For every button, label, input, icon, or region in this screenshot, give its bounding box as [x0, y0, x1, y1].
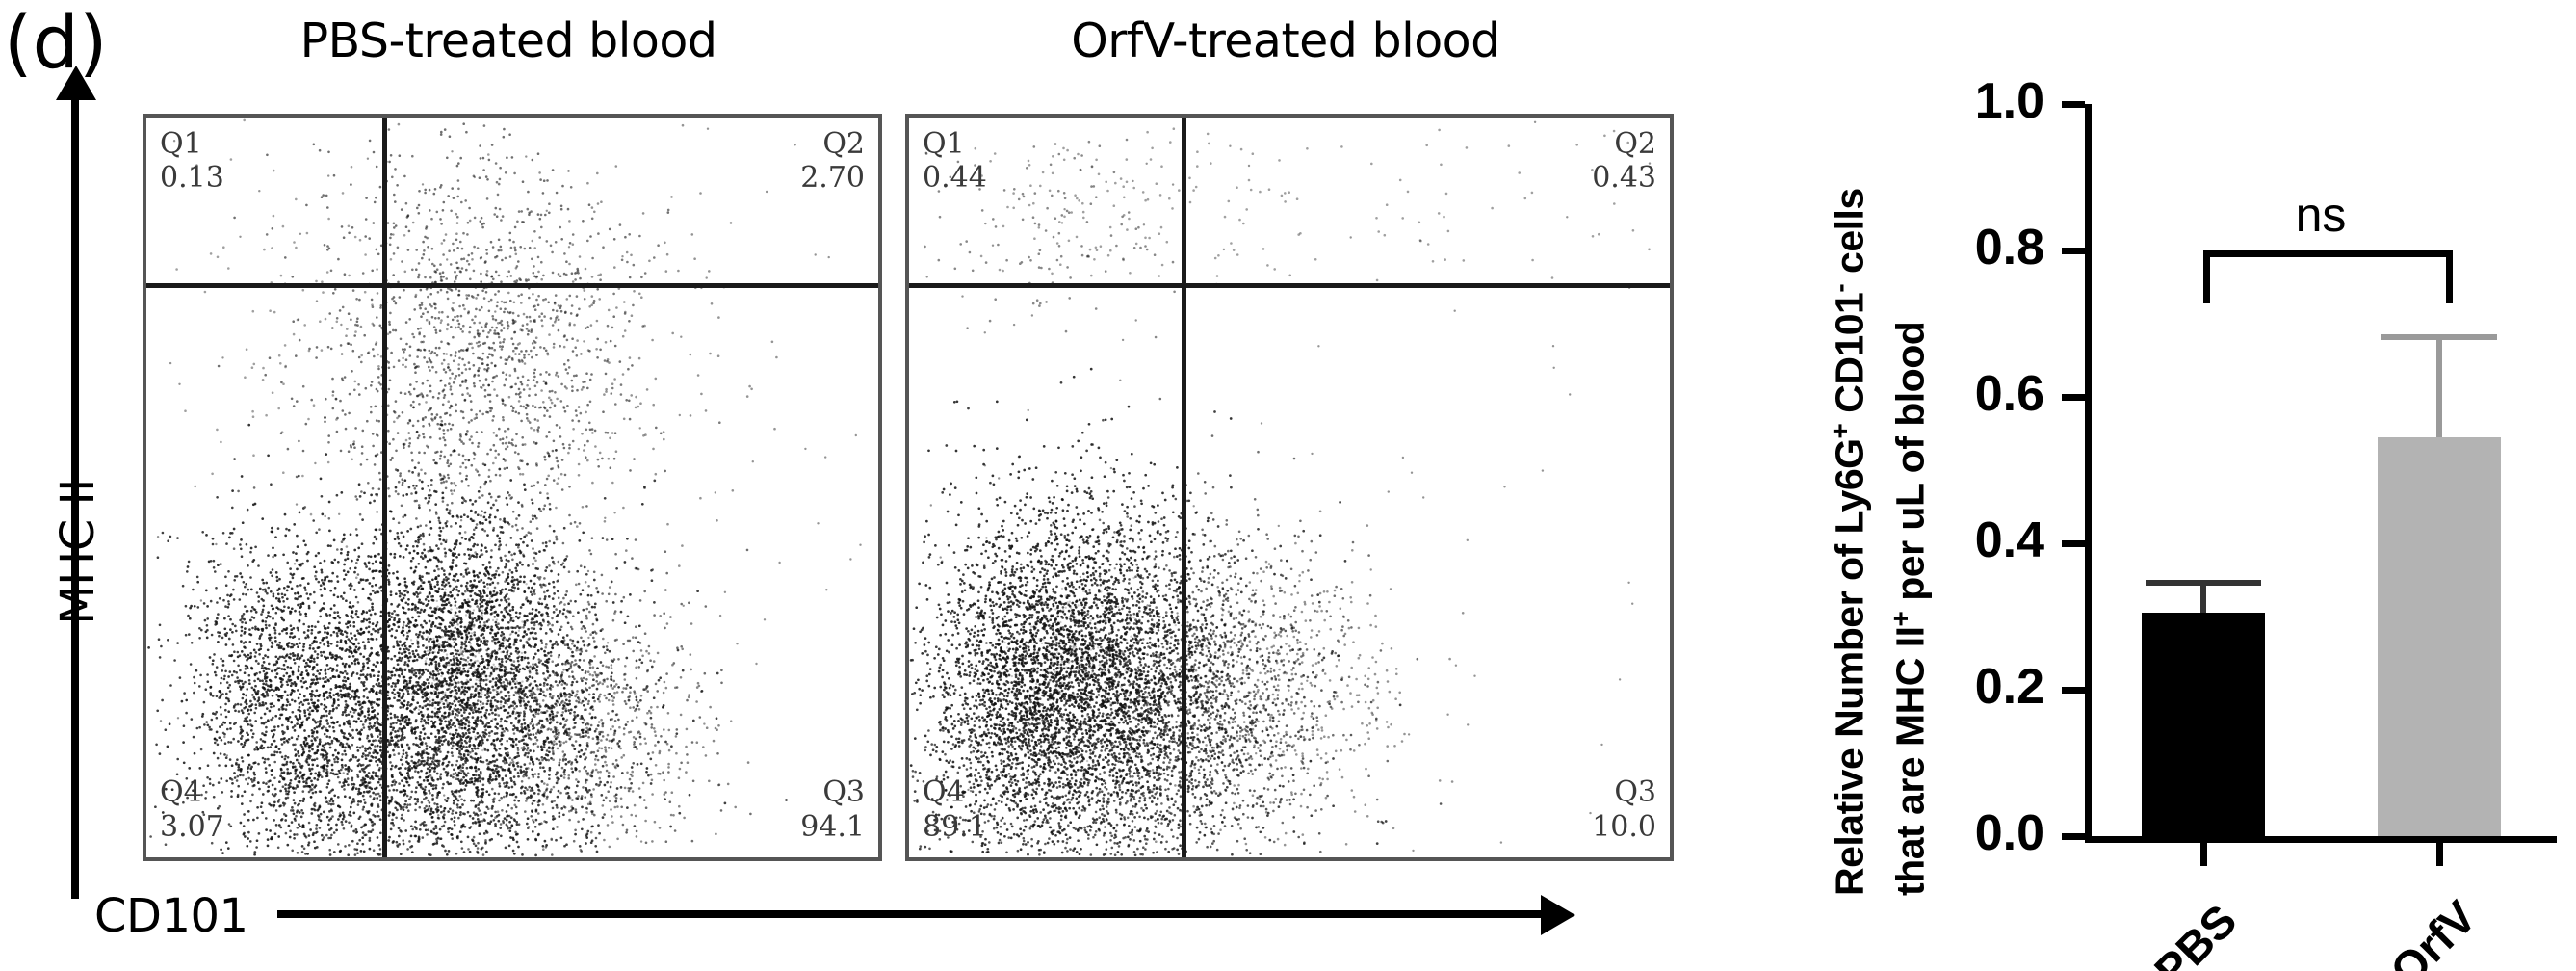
quadrant-q2-value: 0.43: [1592, 161, 1656, 195]
quadrant-q3-value: 94.1: [800, 810, 865, 844]
flow-plot-title-pbs: PBS-treated blood: [143, 13, 874, 68]
significance-bracket: [2203, 250, 2453, 303]
significance-label: ns: [2203, 187, 2439, 243]
flow-plot-title-orfv: OrfV-treated blood: [905, 13, 1666, 68]
quadrant-label-q1: Q1 0.44: [923, 127, 987, 196]
y-axis-title: MHC II: [51, 432, 105, 672]
bar-chart-x-axis: [2085, 836, 2557, 843]
y-tick-label: 0.4: [1919, 512, 2044, 569]
quadrant-q3-name: Q3: [800, 775, 865, 809]
quadrant-label-q3: Q3 10.0: [1592, 775, 1656, 844]
y-tick-mark: [2062, 540, 2085, 547]
figure-panel-d: (d) MHC II CD101 PBS-treated blood Q1 0.…: [0, 0, 2576, 971]
quadrant-q4-name: Q4: [923, 775, 987, 809]
x-category-label-orfv: OrfV: [2380, 890, 2486, 971]
scatter-density-orfv: [909, 118, 1670, 857]
quadrant-q2-name: Q2: [800, 127, 865, 161]
y-tick-mark: [2062, 101, 2085, 108]
quadrant-q3-name: Q3: [1592, 775, 1656, 809]
error-bar-cap-orfv: [2381, 334, 2497, 340]
quadrant-label-q4: Q4 89.1: [923, 775, 987, 844]
quadrant-divider-horizontal: [909, 283, 1670, 288]
x-category-label-pbs: PBS: [2144, 894, 2247, 971]
quadrant-q2-name: Q2: [1592, 127, 1656, 161]
quadrant-q4-value: 89.1: [923, 810, 987, 844]
quadrant-label-q1: Q1 0.13: [160, 127, 224, 196]
x-axis-title: CD101: [94, 889, 248, 943]
quadrant-q4-name: Q4: [160, 775, 224, 809]
y-tick-mark: [2062, 248, 2085, 254]
quadrant-q3-value: 10.0: [1592, 810, 1656, 844]
x-axis-arrowhead-icon: [1541, 895, 1575, 935]
error-bar-cap-pbs: [2146, 580, 2261, 586]
scatter-density-pbs: [146, 118, 878, 857]
x-tick-mark: [2200, 841, 2207, 866]
quadrant-q2-value: 2.70: [800, 161, 865, 195]
quadrant-label-q2: Q2 0.43: [1592, 127, 1656, 196]
quadrant-q4-value: 3.07: [160, 810, 224, 844]
quadrant-label-q3: Q3 94.1: [800, 775, 865, 844]
y-tick-label: 0.8: [1919, 219, 2044, 276]
y-tick-mark: [2062, 394, 2085, 401]
y-tick-label: 0.0: [1919, 804, 2044, 862]
x-axis-arrow-shaft: [277, 910, 1548, 918]
flow-cytometry-plot-orfv[interactable]: Q1 0.44 Q2 0.43 Q4 89.1 Q3 10.0: [905, 114, 1674, 861]
y-tick-mark: [2062, 687, 2085, 694]
quadrant-q1-name: Q1: [160, 127, 224, 161]
quadrant-divider-vertical: [382, 118, 387, 857]
bar-chart-y-axis-title-line1: Relative Number of Ly6G+ CD101- cells: [1825, 188, 1873, 896]
bar-chart-y-axis: [2085, 104, 2092, 840]
y-tick-label: 0.2: [1919, 658, 2044, 716]
quadrant-label-q2: Q2 2.70: [800, 127, 865, 196]
flow-cytometry-plot-pbs[interactable]: Q1 0.13 Q2 2.70 Q4 3.07 Q3 94.1: [143, 114, 882, 861]
error-bar-orfv: [2436, 334, 2442, 436]
y-tick-label: 1.0: [1919, 72, 2044, 130]
x-tick-mark: [2436, 841, 2443, 866]
bar-orfv[interactable]: [2378, 437, 2501, 836]
quadrant-q1-name: Q1: [923, 127, 987, 161]
y-tick-mark: [2062, 833, 2085, 840]
quadrant-q1-value: 0.44: [923, 161, 987, 195]
bar-pbs[interactable]: [2142, 613, 2265, 836]
y-tick-label: 0.6: [1919, 365, 2044, 423]
quadrant-q1-value: 0.13: [160, 161, 224, 195]
quadrant-divider-horizontal: [146, 283, 878, 288]
quadrant-divider-vertical: [1182, 118, 1186, 857]
quadrant-label-q4: Q4 3.07: [160, 775, 224, 844]
